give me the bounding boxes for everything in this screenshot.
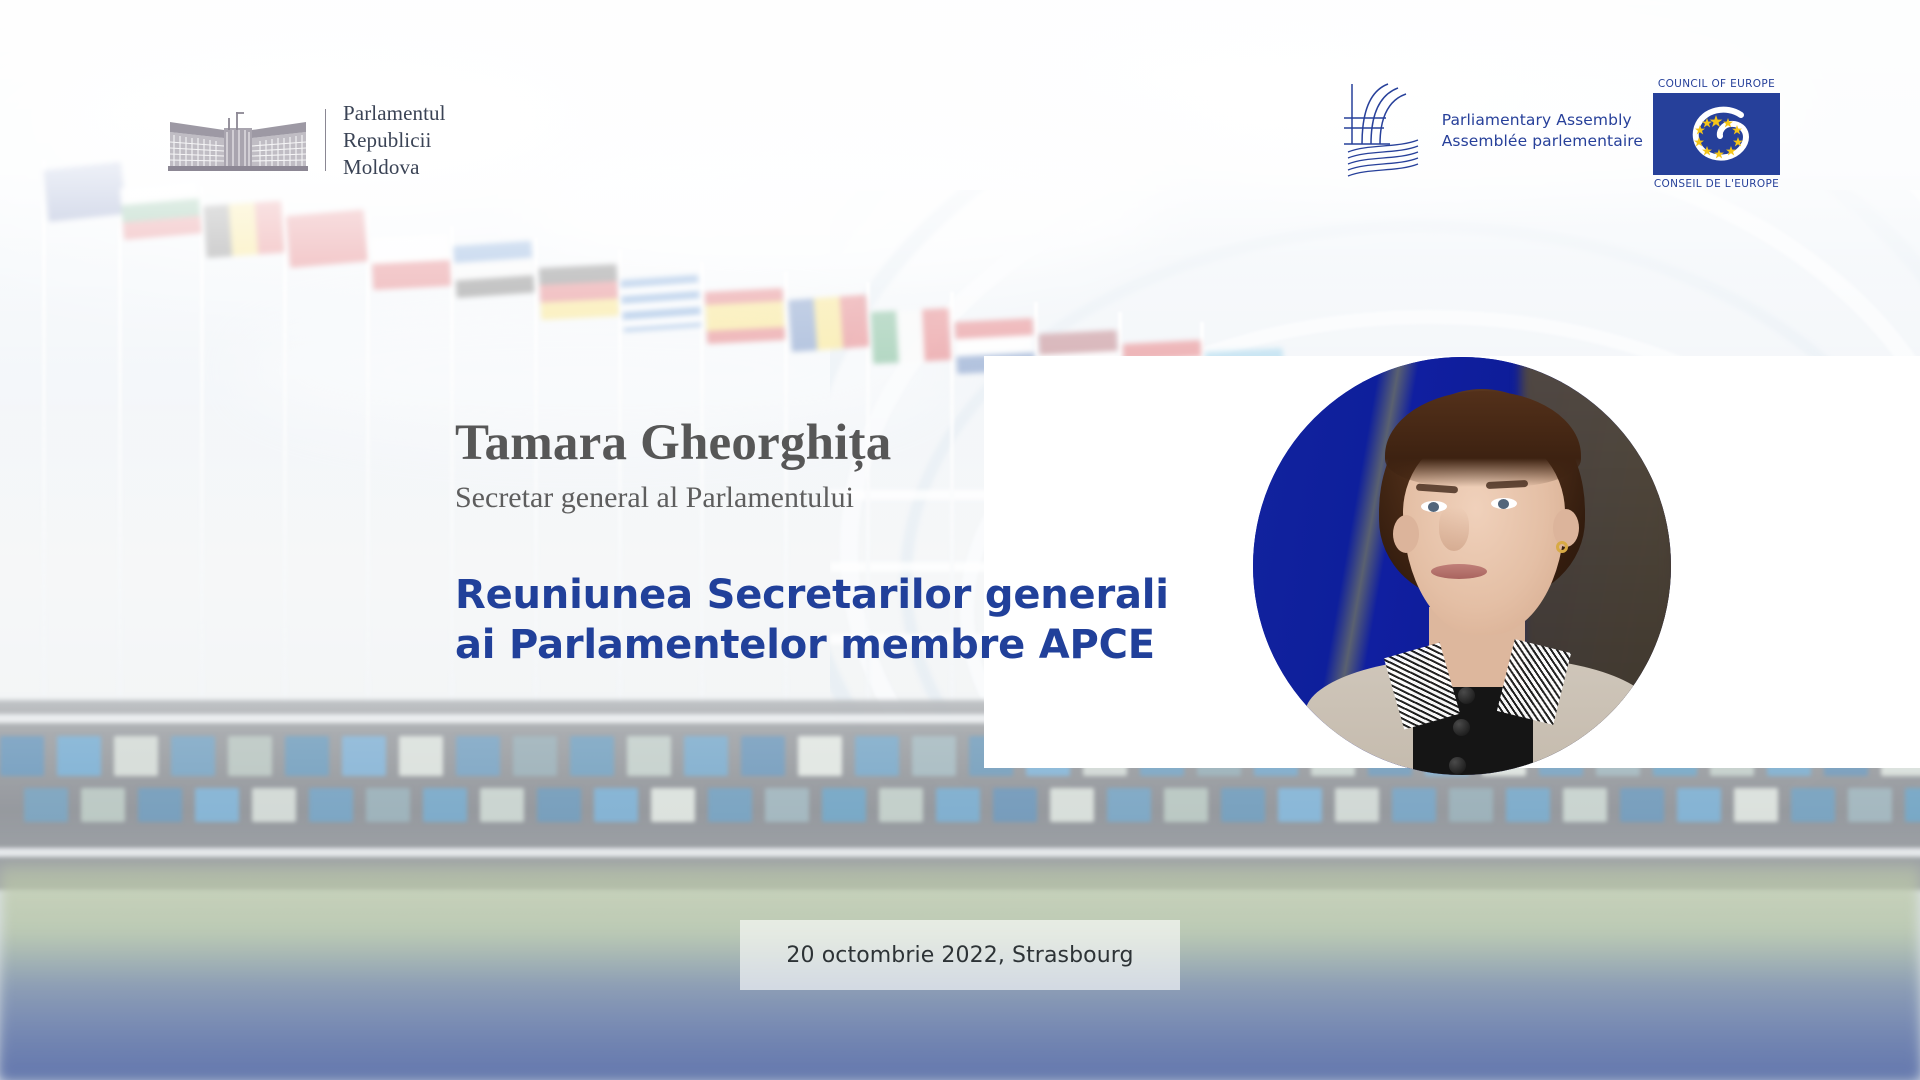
council-of-europe-logo: COUNCIL OF EUROPE (1653, 78, 1780, 190)
date-location-text: 20 octombrie 2022, Strasbourg (786, 943, 1133, 968)
page-title: Tamara Gheorghița (455, 418, 891, 469)
speaker-role: Secretar general al Parlamentului (455, 481, 891, 514)
event-title-line2: ai Parlamentelor membre APCE (455, 621, 1169, 671)
pace-logo-line1: Parliamentary Assembly (1442, 110, 1643, 131)
logo-divider (325, 109, 326, 171)
moldova-logo-text: Parlamentul Republicii Moldova (343, 100, 446, 181)
event-title-line1: Reuniunea Secretarilor generali (455, 571, 1169, 621)
moldova-logo-line3: Moldova (343, 154, 446, 181)
slide-stage: Parlamentul Republicii Moldova (0, 0, 1920, 1080)
coe-caption-bottom: CONSEIL DE L'EUROPE (1653, 178, 1780, 190)
parliament-building-icon (168, 108, 308, 172)
pace-logo-line2: Assemblée parlementaire (1442, 131, 1643, 152)
council-of-europe-stars-icon (1653, 93, 1780, 175)
coe-logos: Parliamentary Assembly Assemblée parleme… (1342, 78, 1780, 190)
moldova-logo-line2: Republicii (343, 127, 446, 154)
moldova-logo-line1: Parlamentul (343, 100, 446, 127)
date-location-band: 20 octombrie 2022, Strasbourg (740, 920, 1180, 990)
pace-curves-icon (1342, 78, 1434, 183)
speaker-portrait (1253, 357, 1671, 775)
event-title: Reuniunea Secretarilor generali ai Parla… (455, 571, 1169, 670)
moldova-parliament-logo: Parlamentul Republicii Moldova (168, 100, 446, 181)
pace-logo: Parliamentary Assembly Assemblée parleme… (1342, 78, 1643, 183)
pace-logo-text: Parliamentary Assembly Assemblée parleme… (1442, 110, 1643, 152)
speaker-name-block: Tamara Gheorghița Secretar general al Pa… (455, 418, 891, 514)
slide-header: Parlamentul Republicii Moldova (0, 0, 1920, 200)
coe-caption-top: COUNCIL OF EUROPE (1653, 78, 1780, 90)
